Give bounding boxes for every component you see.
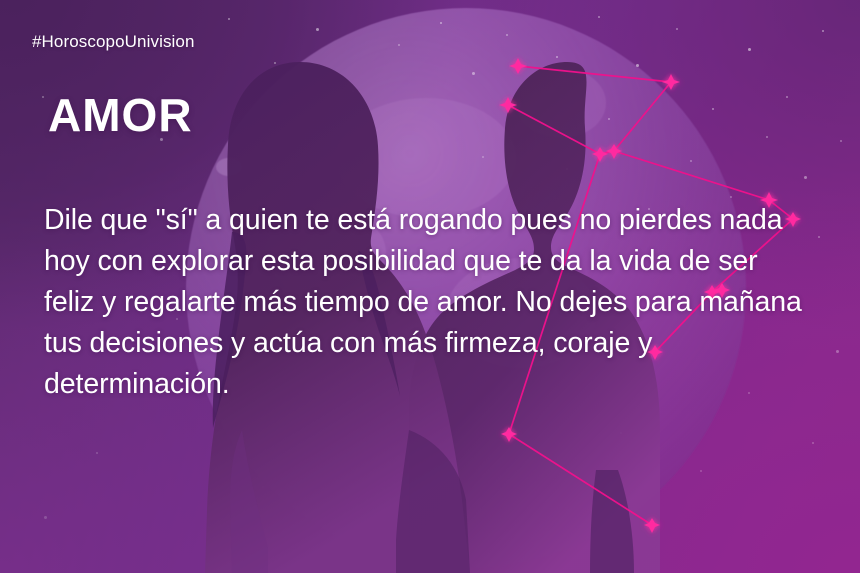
horoscope-body-text: Dile que "sí" a quien te está rogando pu… xyxy=(44,200,814,405)
hashtag-label: #HoroscopoUnivision xyxy=(32,32,195,52)
horoscope-card: #HoroscopoUnivision AMOR Dile que "sí" a… xyxy=(0,0,860,573)
page-title: AMOR xyxy=(48,90,193,140)
card-content: #HoroscopoUnivision AMOR Dile que "sí" a… xyxy=(0,0,860,573)
